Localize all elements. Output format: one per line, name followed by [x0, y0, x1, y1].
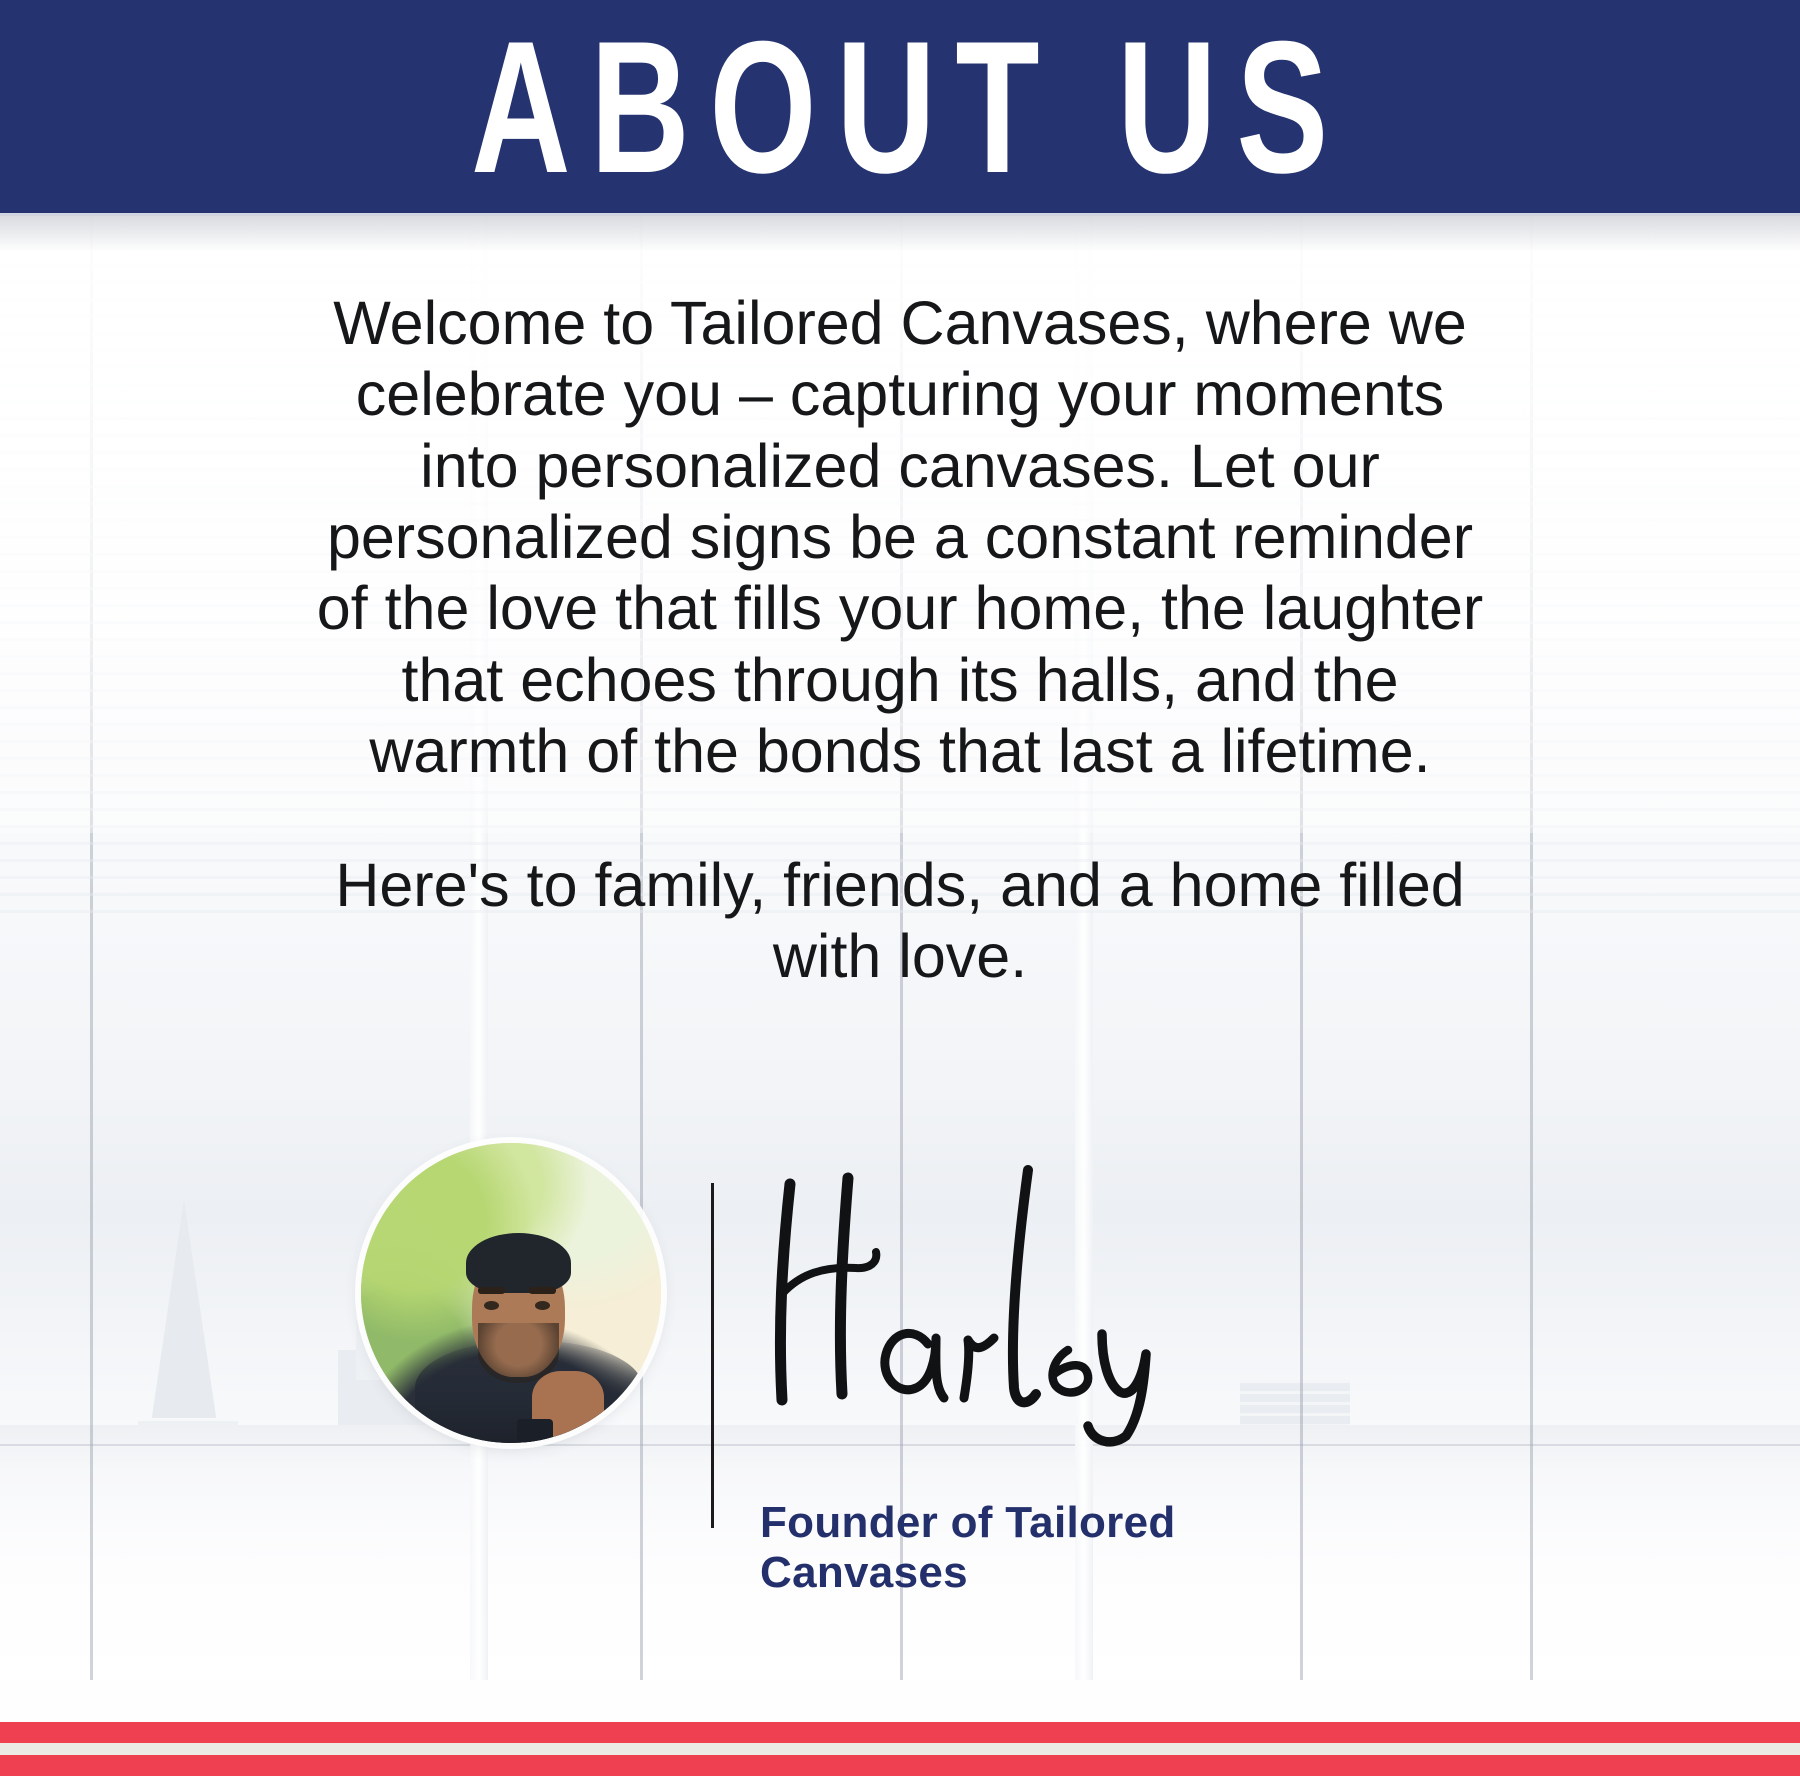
avatar-hair [466, 1233, 571, 1293]
founder-role-line-1: Founder of Tailored [760, 1498, 1280, 1548]
footer-bar-top [0, 1722, 1800, 1743]
paragraph-1: Welcome to Tailored Canvases, where we c… [310, 288, 1490, 788]
avatar-eyebrow-right [529, 1287, 556, 1294]
header-banner: ABOUT US [0, 0, 1800, 213]
avatar-watch [517, 1419, 553, 1443]
page-title: ABOUT US [452, 12, 1349, 200]
signature-divider [711, 1183, 714, 1528]
founder-role-line-2: Canvases [760, 1548, 1280, 1598]
about-us-poster: ABOUT US Welcome to Tailored Canvases, w… [0, 0, 1800, 1776]
avatar-eyebrow-left [478, 1287, 505, 1294]
footer-bar-gap [0, 1743, 1800, 1755]
about-copy: Welcome to Tailored Canvases, where we c… [310, 288, 1490, 992]
avatar-eye-left [484, 1301, 499, 1311]
founder-role: Founder of Tailored Canvases [760, 1498, 1280, 1598]
footer-bar-bottom [0, 1755, 1800, 1776]
header-shadow [0, 216, 1800, 252]
avatar [361, 1143, 661, 1443]
avatar-eye-right [535, 1301, 550, 1311]
signature-harley [752, 1148, 1212, 1448]
paragraph-2: Here's to family, friends, and a home fi… [310, 850, 1490, 993]
signature-icon [752, 1148, 1212, 1448]
